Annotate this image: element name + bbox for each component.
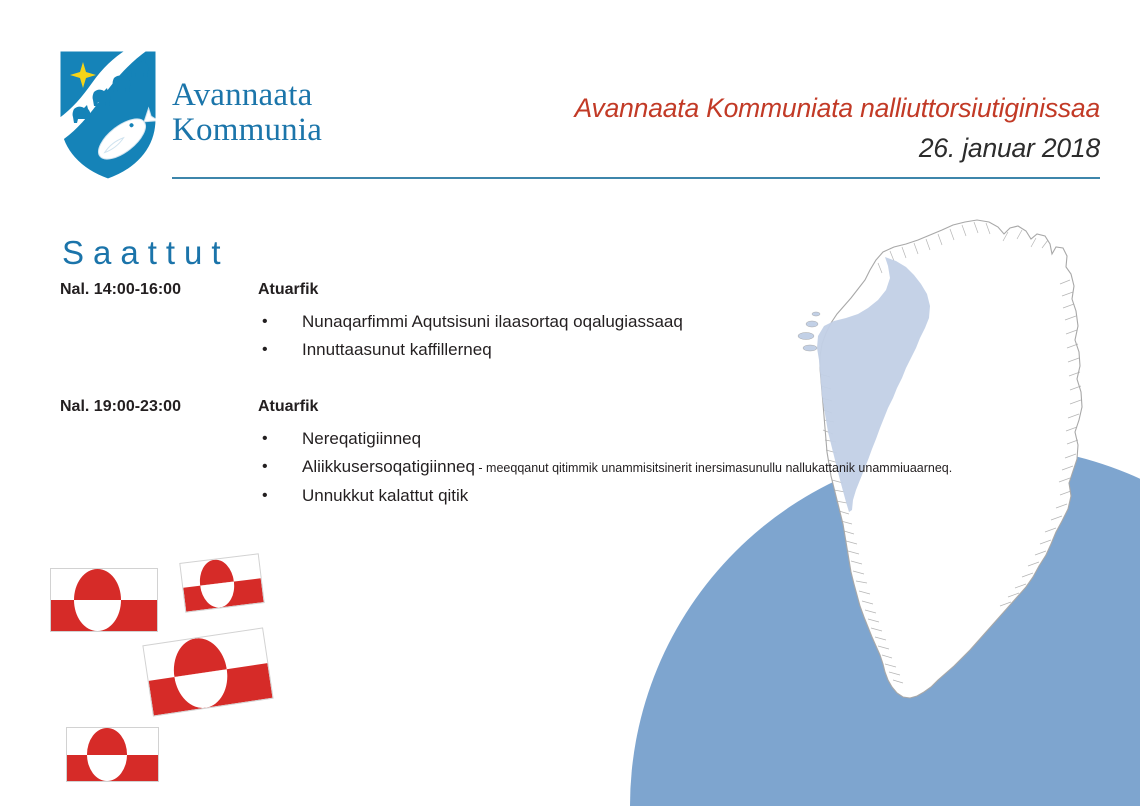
organization-logo-text: Avannaata Kommunia bbox=[172, 78, 322, 148]
event-title: Avannaata Kommuniata nalliuttorsiutigini… bbox=[340, 93, 1100, 124]
list-item-note: - meeqqanut qitimmik unammisitsinerit in… bbox=[475, 461, 952, 475]
list-item-text: Innuttaasunut kaffillerneq bbox=[302, 340, 492, 359]
page-header: Avannaata Kommunia Avannaata Kommuniata … bbox=[0, 0, 1140, 190]
page-title: Saattut bbox=[62, 234, 230, 272]
schedule-venue: Atuarfik bbox=[258, 281, 318, 299]
schedule-item-list: Nunaqarfimmi Aqutsisuni ilaasortaq oqalu… bbox=[258, 308, 683, 364]
logo-line-2: Kommunia bbox=[172, 113, 322, 148]
header-divider bbox=[172, 177, 1100, 179]
schedule-time: Nal. 14:00-16:00 bbox=[60, 281, 181, 299]
schedule-item-list: Nereqatigiinneq Aliikkusersoqatigiinneq … bbox=[258, 425, 952, 510]
list-item: Aliikkusersoqatigiinneq - meeqqanut qiti… bbox=[258, 453, 952, 482]
schedule-venue: Atuarfik bbox=[258, 398, 318, 416]
poster-page: Avannaata Kommunia Avannaata Kommuniata … bbox=[0, 0, 1140, 806]
list-item: Innuttaasunut kaffillerneq bbox=[258, 336, 683, 364]
list-item-text: Unnukkut kalattut qitik bbox=[302, 486, 468, 505]
list-item: Nunaqarfimmi Aqutsisuni ilaasortaq oqalu… bbox=[258, 308, 683, 336]
list-item-text: Aliikkusersoqatigiinneq bbox=[302, 457, 475, 476]
schedule-time: Nal. 19:00-23:00 bbox=[60, 398, 181, 416]
list-item: Nereqatigiinneq bbox=[258, 425, 952, 453]
list-item-text: Nunaqarfimmi Aqutsisuni ilaasortaq oqalu… bbox=[302, 312, 683, 331]
avannaata-kommunia-coat-of-arms-icon bbox=[56, 47, 160, 183]
logo-line-1: Avannaata bbox=[172, 77, 312, 113]
list-item: Unnukkut kalattut qitik bbox=[258, 482, 952, 510]
event-date: 26. januar 2018 bbox=[340, 133, 1100, 164]
list-item-text: Nereqatigiinneq bbox=[302, 429, 421, 448]
